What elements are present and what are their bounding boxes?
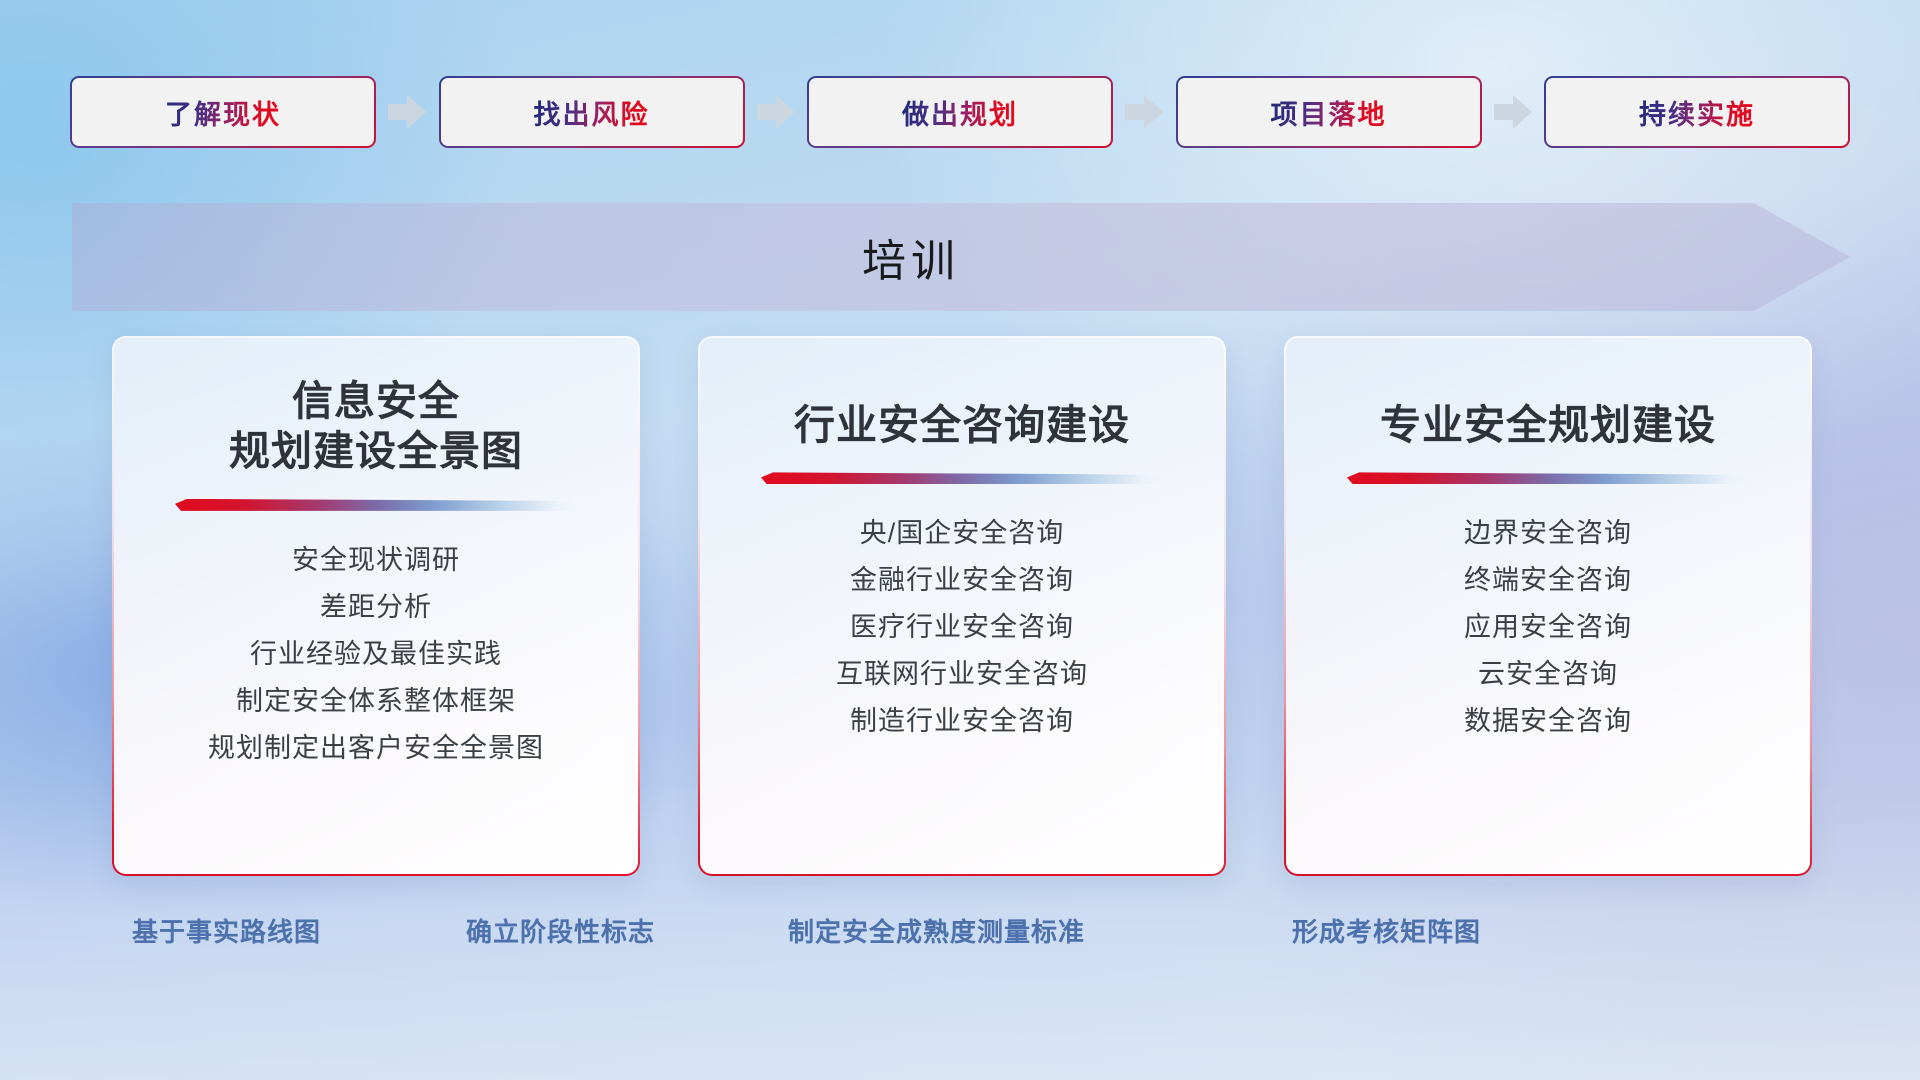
step-label-5: 持续实施 bbox=[1639, 93, 1755, 132]
card-1-divider bbox=[175, 499, 577, 511]
card-3-divider bbox=[1347, 472, 1749, 484]
card-1-title-line-2: 规划建设全景图 bbox=[140, 426, 612, 476]
list-item: 央/国企安全咨询 bbox=[726, 510, 1198, 557]
training-banner: 培训 bbox=[72, 203, 1850, 311]
list-item: 互联网行业安全咨询 bbox=[726, 651, 1198, 698]
arrow-head bbox=[407, 95, 426, 129]
divider-bar bbox=[1347, 472, 1749, 484]
step-box-2-inner: 找出风险 bbox=[441, 78, 743, 146]
step-box-2[interactable]: 找出风险 bbox=[439, 76, 745, 148]
step-arrow-icon-4 bbox=[1494, 95, 1532, 129]
outcome-note-2: 确立阶段性标志 bbox=[466, 912, 655, 949]
list-item: 金融行业安全咨询 bbox=[726, 557, 1198, 604]
card-3-title-line-1: 专业安全规划建设 bbox=[1312, 400, 1784, 450]
list-item: 应用安全咨询 bbox=[1312, 604, 1784, 651]
list-item: 规划制定出客户安全全景图 bbox=[140, 725, 612, 772]
card-1-list: 安全现状调研 差距分析 行业经验及最佳实践 制定安全体系整体框架 规划制定出客户… bbox=[140, 537, 612, 772]
card-2-body: 行业安全咨询建设 央/国企安全咨询 金融行业安全咨询 医疗行业安全咨询 互联网行… bbox=[700, 338, 1224, 874]
step-box-1[interactable]: 了解现状 bbox=[70, 76, 376, 148]
step-arrow-icon-3 bbox=[1125, 95, 1163, 129]
card-1-title-line-1: 信息安全 bbox=[140, 376, 612, 426]
step-label-2: 找出风险 bbox=[534, 93, 650, 132]
arrow-shaft bbox=[1125, 104, 1146, 120]
outcome-note-4: 形成考核矩阵图 bbox=[1292, 912, 1481, 949]
card-1-body: 信息安全 规划建设全景图 安全现状调研 差距分析 行业经验及最佳实践 制定安全体… bbox=[114, 338, 638, 874]
step-label-1: 了解现状 bbox=[165, 93, 281, 132]
banner-title: 培训 bbox=[72, 203, 1850, 311]
card-information-security-blueprint[interactable]: 信息安全 规划建设全景图 安全现状调研 差距分析 行业经验及最佳实践 制定安全体… bbox=[112, 336, 640, 876]
arrow-head bbox=[1513, 95, 1532, 129]
slide-canvas: 了解现状 找出风险 做出规划 项目落地 bbox=[0, 0, 1920, 1080]
step-label-3: 做出规划 bbox=[902, 93, 1018, 132]
divider-bar bbox=[761, 472, 1163, 484]
step-arrow-icon-1 bbox=[388, 95, 426, 129]
step-box-4[interactable]: 项目落地 bbox=[1176, 76, 1482, 148]
step-box-5[interactable]: 持续实施 bbox=[1544, 76, 1850, 148]
card-3-body: 专业安全规划建设 边界安全咨询 终端安全咨询 应用安全咨询 云安全咨询 数据安全… bbox=[1286, 338, 1810, 874]
arrow-shaft bbox=[388, 104, 409, 120]
card-3-title: 专业安全规划建设 bbox=[1312, 338, 1784, 450]
list-item: 医疗行业安全咨询 bbox=[726, 604, 1198, 651]
list-item: 云安全咨询 bbox=[1312, 651, 1784, 698]
list-item: 数据安全咨询 bbox=[1312, 698, 1784, 745]
list-item: 差距分析 bbox=[140, 584, 612, 631]
arrow-shaft bbox=[757, 104, 778, 120]
step-box-1-inner: 了解现状 bbox=[72, 78, 374, 146]
card-2-title-line-1: 行业安全咨询建设 bbox=[726, 400, 1198, 450]
arrow-head bbox=[1144, 95, 1163, 129]
step-label-4: 项目落地 bbox=[1271, 93, 1387, 132]
step-box-3-inner: 做出规划 bbox=[809, 78, 1111, 146]
card-3-list: 边界安全咨询 终端安全咨询 应用安全咨询 云安全咨询 数据安全咨询 bbox=[1312, 510, 1784, 745]
arrow-shaft bbox=[1494, 104, 1515, 120]
list-item: 安全现状调研 bbox=[140, 537, 612, 584]
process-step-row: 了解现状 找出风险 做出规划 项目落地 bbox=[70, 76, 1850, 148]
card-2-title: 行业安全咨询建设 bbox=[726, 338, 1198, 450]
step-box-3[interactable]: 做出规划 bbox=[807, 76, 1113, 148]
outcome-note-3: 制定安全成熟度测量标准 bbox=[788, 912, 1085, 949]
card-1-title: 信息安全 规划建设全景图 bbox=[140, 338, 612, 477]
list-item: 终端安全咨询 bbox=[1312, 557, 1784, 604]
list-item: 行业经验及最佳实践 bbox=[140, 631, 612, 678]
step-box-5-inner: 持续实施 bbox=[1546, 78, 1848, 146]
step-arrow-icon-2 bbox=[757, 95, 795, 129]
list-item: 制定安全体系整体框架 bbox=[140, 678, 612, 725]
list-item: 边界安全咨询 bbox=[1312, 510, 1784, 557]
divider-bar bbox=[175, 499, 577, 511]
card-2-list: 央/国企安全咨询 金融行业安全咨询 医疗行业安全咨询 互联网行业安全咨询 制造行… bbox=[726, 510, 1198, 745]
arrow-head bbox=[776, 95, 795, 129]
step-box-4-inner: 项目落地 bbox=[1178, 78, 1480, 146]
card-row: 信息安全 规划建设全景图 安全现状调研 差距分析 行业经验及最佳实践 制定安全体… bbox=[112, 336, 1812, 876]
list-item: 制造行业安全咨询 bbox=[726, 698, 1198, 745]
card-industry-security-consulting[interactable]: 行业安全咨询建设 央/国企安全咨询 金融行业安全咨询 医疗行业安全咨询 互联网行… bbox=[698, 336, 1226, 876]
card-professional-security-planning[interactable]: 专业安全规划建设 边界安全咨询 终端安全咨询 应用安全咨询 云安全咨询 数据安全… bbox=[1284, 336, 1812, 876]
card-2-divider bbox=[761, 472, 1163, 484]
outcome-note-row: 基于事实路线图 确立阶段性标志 制定安全成熟度测量标准 形成考核矩阵图 bbox=[0, 912, 1920, 964]
outcome-note-1: 基于事实路线图 bbox=[132, 912, 321, 949]
